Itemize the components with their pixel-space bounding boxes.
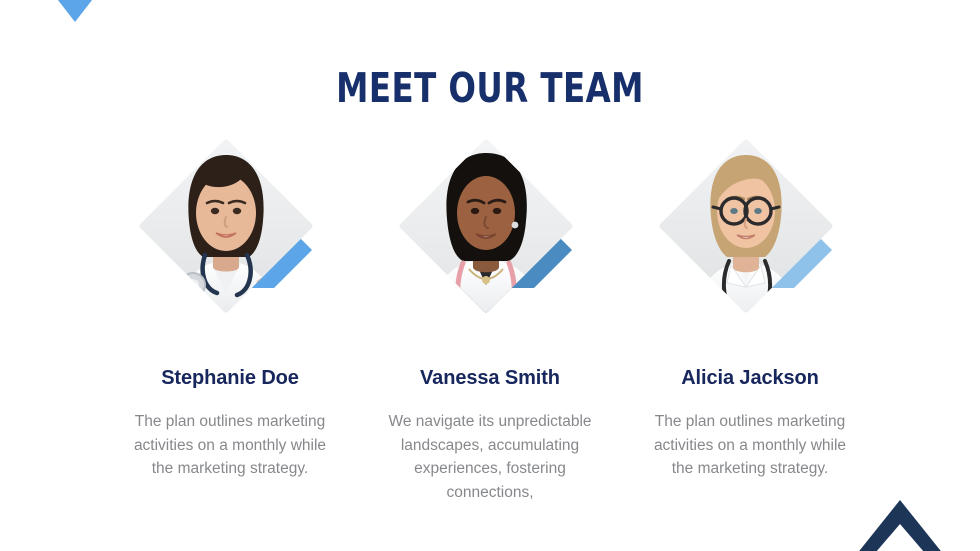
member-description: The plan outlines marketing activities o… [123, 410, 338, 481]
chevron-down-icon [30, 0, 120, 47]
team-member-card[interactable]: Alicia Jackson The plan outlines marketi… [620, 150, 880, 481]
page-title: MEET OUR TEAM [59, 64, 921, 112]
portrait-wrap [620, 150, 880, 350]
member-name: Stephanie Doe [161, 367, 299, 390]
team-member-card[interactable]: Vanessa Smith We navigate its unpredicta… [360, 150, 620, 504]
member-name: Vanessa Smith [420, 367, 560, 390]
chevron-up-icon [852, 500, 948, 551]
team-member-list: Stephanie Doe The plan outlines marketin… [0, 150, 980, 504]
member-description: We navigate its unpredictable landscapes… [383, 410, 598, 504]
portrait-wrap [100, 150, 360, 350]
member-name: Alicia Jackson [681, 367, 819, 390]
member-description: The plan outlines marketing activities o… [643, 410, 858, 481]
portrait-wrap [360, 150, 620, 350]
team-member-card[interactable]: Stephanie Doe The plan outlines marketin… [100, 150, 360, 481]
